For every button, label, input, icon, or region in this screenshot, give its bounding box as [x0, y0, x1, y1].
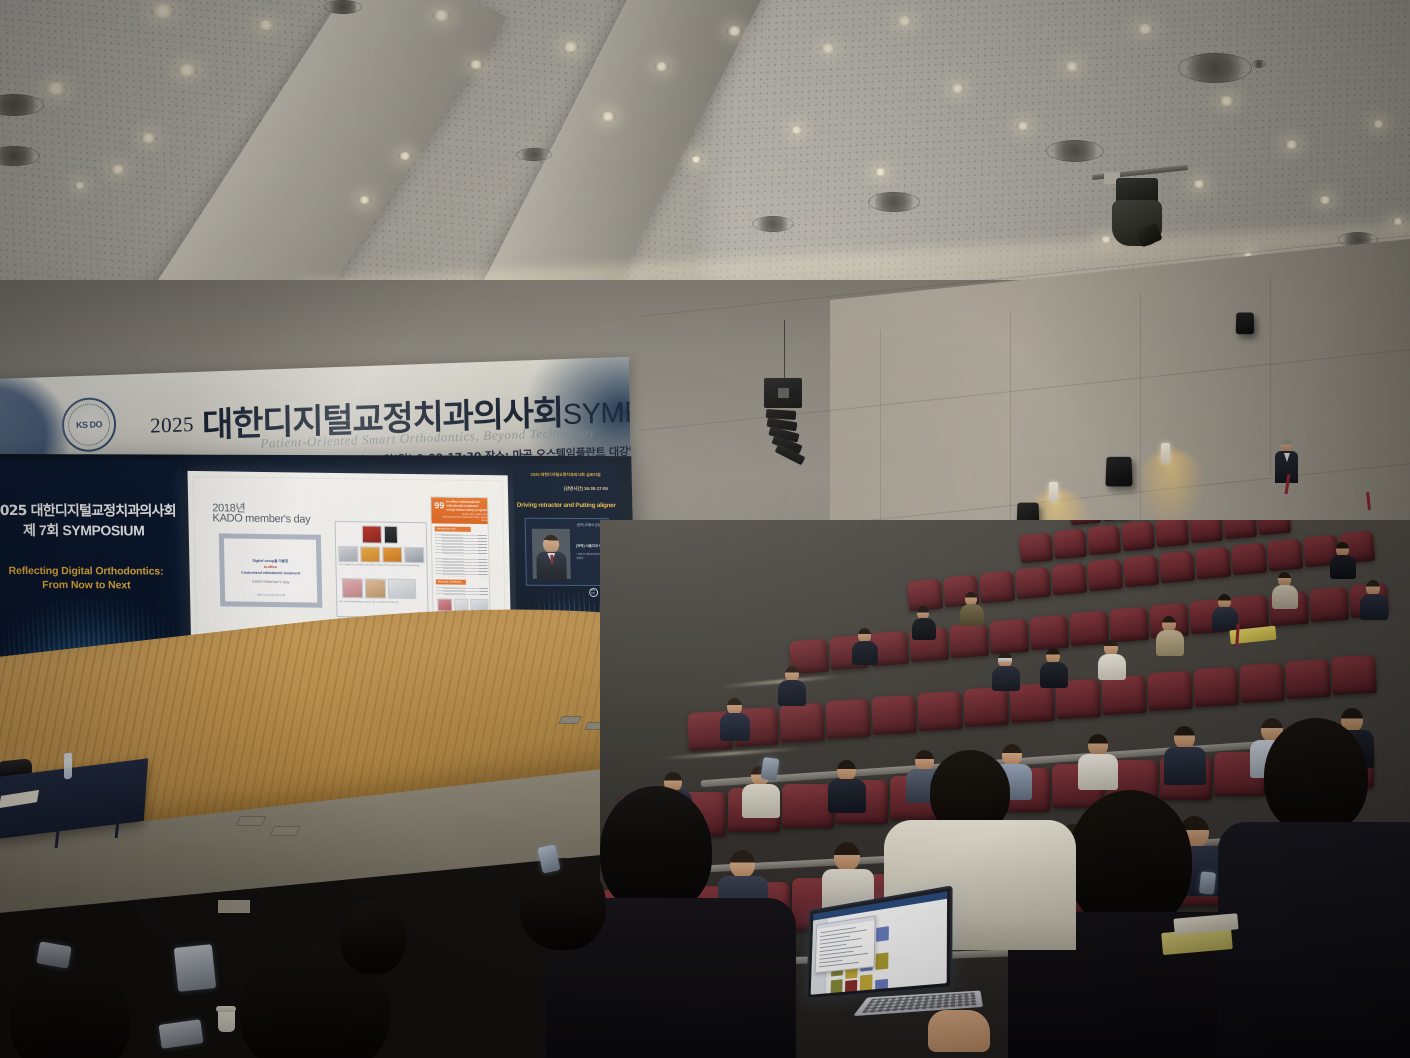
- wall-sconce: [1049, 482, 1058, 502]
- ceiling-downlight: [176, 64, 198, 76]
- seat[interactable]: [1029, 615, 1069, 651]
- ceiling-downlight: [1136, 24, 1154, 34]
- figure-caption-bottom: Fig. 3 Indirect bonding procedure with c…: [339, 601, 427, 605]
- ceiling-downlight: [468, 60, 484, 69]
- wall-sconce: [1161, 443, 1170, 463]
- ceiling-downlight: [790, 126, 803, 134]
- seat[interactable]: [1195, 547, 1231, 580]
- calendar-event[interactable]: [860, 994, 885, 995]
- ceiling-downlight: [1218, 96, 1235, 106]
- ceiling-recessed-fixture: [1178, 53, 1252, 83]
- smartphone[interactable]: [1199, 871, 1216, 894]
- ceiling-downlight: [1318, 196, 1332, 204]
- seat[interactable]: [1309, 587, 1349, 623]
- seat[interactable]: [979, 571, 1015, 604]
- left-panel-title-line1: 2025 대한디지털교정치과의사회: [0, 500, 186, 521]
- seat[interactable]: [1015, 567, 1051, 600]
- ceiling-recessed-fixture: [752, 216, 794, 232]
- attendee-laptop[interactable]: [800, 898, 972, 1018]
- wall-speaker: [1236, 313, 1255, 335]
- ceiling-recessed-fixture: [868, 192, 920, 212]
- figure-image: [388, 579, 416, 599]
- seat[interactable]: [1239, 663, 1285, 703]
- poster-section-1: Introduction and Background: [435, 526, 471, 532]
- stage-floor-box: [236, 816, 267, 826]
- seat[interactable]: [917, 691, 963, 731]
- ceiling-downlight: [358, 196, 371, 204]
- calendar-event[interactable]: [875, 952, 888, 970]
- seat[interactable]: [1285, 659, 1331, 699]
- ceiling-downlight: [896, 16, 913, 26]
- poster-affiliation: Mokdong Dental Orthodontic Clinic, Seoul…: [442, 516, 487, 523]
- poster-body-text: [435, 558, 487, 577]
- ceiling-recessed-fixture: [1252, 60, 1266, 68]
- calendar-event[interactable]: [875, 979, 888, 990]
- poster-section-2: Materials & Methods: [436, 579, 466, 584]
- seat[interactable]: [1189, 520, 1223, 543]
- card-line-2: In-office: [224, 564, 316, 569]
- calendar-event[interactable]: [860, 974, 873, 993]
- seat[interactable]: [779, 703, 825, 743]
- sconce-light-pool: [1136, 450, 1206, 530]
- ceiling-downlight: [257, 20, 275, 30]
- figure-image: [365, 578, 386, 598]
- wall-seam: [1270, 274, 1271, 474]
- seat[interactable]: [1087, 559, 1123, 592]
- ceiling-downlight: [1016, 122, 1030, 130]
- ceiling-downlight: [562, 42, 579, 52]
- seat[interactable]: [1051, 563, 1087, 596]
- smartphone[interactable]: [36, 941, 71, 968]
- ceiling-downlight: [600, 112, 616, 121]
- figure-image: [360, 546, 380, 562]
- tagline-line1: Reflecting Digital Orthodontics:: [8, 565, 163, 578]
- auditorium-photo: KS DO 2025 대한디지털교정치과의사회SYMPOSIUM Patient…: [0, 0, 1410, 1058]
- ceiling-downlight: [140, 133, 157, 143]
- ceiling-downlight: [874, 168, 887, 176]
- smartphone[interactable]: [174, 944, 216, 992]
- ceiling-downlight: [1392, 218, 1404, 225]
- typing-hand: [928, 1010, 990, 1052]
- laptop-screen[interactable]: [806, 885, 952, 1000]
- seat[interactable]: [825, 699, 871, 739]
- ceiling-recessed-fixture: [516, 148, 552, 161]
- card-footer: 대한디지털교정치과의사회: [225, 592, 317, 597]
- seat[interactable]: [1159, 551, 1195, 584]
- figure-image: [404, 547, 424, 563]
- ceiling-recessed-fixture: [1046, 140, 1104, 162]
- moving-head-light: [1098, 160, 1178, 265]
- figure-row-middle: [338, 546, 424, 563]
- seat[interactable]: [1069, 611, 1109, 647]
- seat[interactable]: [1101, 675, 1147, 715]
- figure-image: [384, 526, 398, 544]
- poster-number: 99: [434, 500, 444, 510]
- seat[interactable]: [871, 695, 917, 735]
- poster-figure: [437, 598, 452, 611]
- figure-row-top: [362, 525, 398, 543]
- slide-figure-block: Fig. 2 Digital set-up model and printed …: [335, 521, 429, 618]
- card-line-3: Customized orthodontic treatment: [225, 570, 317, 575]
- stage-floor-box: [270, 826, 301, 836]
- wall-speaker: [1105, 457, 1132, 487]
- bottle-cap: [64, 753, 72, 759]
- coffee-cup-lid: [216, 1006, 236, 1012]
- smartphone[interactable]: [159, 1019, 204, 1049]
- coffee-cup[interactable]: [218, 1010, 235, 1032]
- seat[interactable]: [1147, 671, 1193, 711]
- line-array-speaker: [762, 378, 804, 473]
- calendar-event[interactable]: [876, 926, 889, 942]
- ceiling-downlight: [1192, 180, 1206, 188]
- speaker-port: [778, 388, 789, 398]
- seat[interactable]: [1053, 529, 1087, 560]
- figure-row-bottom: [342, 578, 416, 599]
- seat[interactable]: [1231, 543, 1267, 576]
- figure-image: [362, 525, 382, 543]
- figure-image: [382, 547, 402, 563]
- seat[interactable]: [1267, 539, 1303, 572]
- ceiling-downlight: [1064, 62, 1080, 71]
- figure-image: [342, 578, 363, 598]
- ceiling-downlight: [820, 44, 836, 53]
- left-panel-tagline: Reflecting Digital Orthodontics: From No…: [0, 564, 186, 593]
- ceiling-downlight: [110, 165, 126, 174]
- stage-floor-box: [558, 716, 582, 724]
- ceiling-downlight: [44, 82, 68, 95]
- figure-caption-top: Fig. 2 Digital set-up model and printed …: [338, 564, 426, 568]
- ceiling-downlight: [726, 26, 743, 36]
- speaker-portrait: [532, 529, 571, 579]
- ceiling-downlight: [74, 182, 86, 189]
- seat[interactable]: [782, 784, 834, 828]
- stage-edge-panel[interactable]: [218, 900, 250, 913]
- seat[interactable]: [1123, 555, 1159, 588]
- poster-authors: Hyojun Kim, Jaejun Cho Mokdong Dental Or…: [437, 512, 487, 522]
- poster-title: In-office individualized orthodontic tre…: [446, 501, 487, 513]
- right-panel-time: [강연시간] 16:30-17:00: [514, 486, 618, 492]
- smartphone[interactable]: [761, 757, 780, 781]
- seat[interactable]: [1087, 525, 1121, 556]
- slide-title-card: Digital setup을 이용한 In-office Customized …: [219, 533, 323, 607]
- calendar-event[interactable]: [845, 980, 857, 993]
- speaker-info-box: [연자] 조형식 원장님 [약력] 서울치과 원장 • 대한디지털교정치과의사회…: [525, 518, 610, 586]
- seat[interactable]: [1109, 607, 1149, 643]
- calendar-event[interactable]: [831, 979, 843, 994]
- right-panel-kicker: 2025 대한디지털교정치과의사회 심포지엄: [514, 472, 618, 478]
- poster-header: 99 In-office individualized orthodontic …: [431, 497, 490, 524]
- left-panel-title-line2: 제 7회 SYMPOSIUM: [0, 520, 186, 541]
- ceiling-downlight: [398, 152, 412, 160]
- ceiling-recessed-fixture: [324, 0, 362, 14]
- poster-body-text: [435, 534, 487, 556]
- seat[interactable]: [963, 687, 1009, 727]
- ceiling-downlight: [150, 4, 176, 18]
- seat[interactable]: [1121, 521, 1155, 552]
- laptop-app-window[interactable]: [811, 891, 947, 994]
- seat[interactable]: [1331, 655, 1377, 695]
- figure-image: [338, 546, 358, 562]
- seat[interactable]: [989, 619, 1029, 655]
- seat[interactable]: [949, 623, 989, 659]
- tagline-line2: From Now to Next: [42, 579, 131, 591]
- poster-body-text: [436, 587, 488, 597]
- ceiling-downlight: [1372, 120, 1385, 128]
- seat[interactable]: [1019, 533, 1053, 564]
- seat[interactable]: [1223, 520, 1257, 539]
- card-line-4: KADO Member's day: [225, 578, 317, 584]
- slide-heading-event: KADO member's day: [212, 512, 310, 525]
- seat[interactable]: [1155, 520, 1189, 547]
- ceiling-downlight: [654, 62, 669, 71]
- ceiling-downlight: [1284, 140, 1299, 149]
- ceiling-downlight: [950, 84, 965, 93]
- ksdo-seal-icon: KS DO: [589, 588, 598, 597]
- app-dialog[interactable]: [815, 915, 876, 973]
- right-panel-lecture-title: Driving retractor and Putting aligner: [514, 502, 618, 509]
- seat[interactable]: [1193, 667, 1239, 707]
- water-bottle: [64, 757, 72, 780]
- ceiling-downlight: [432, 10, 451, 21]
- speaker-suspension-wire: [784, 320, 785, 380]
- ceiling-downlight: [690, 156, 702, 163]
